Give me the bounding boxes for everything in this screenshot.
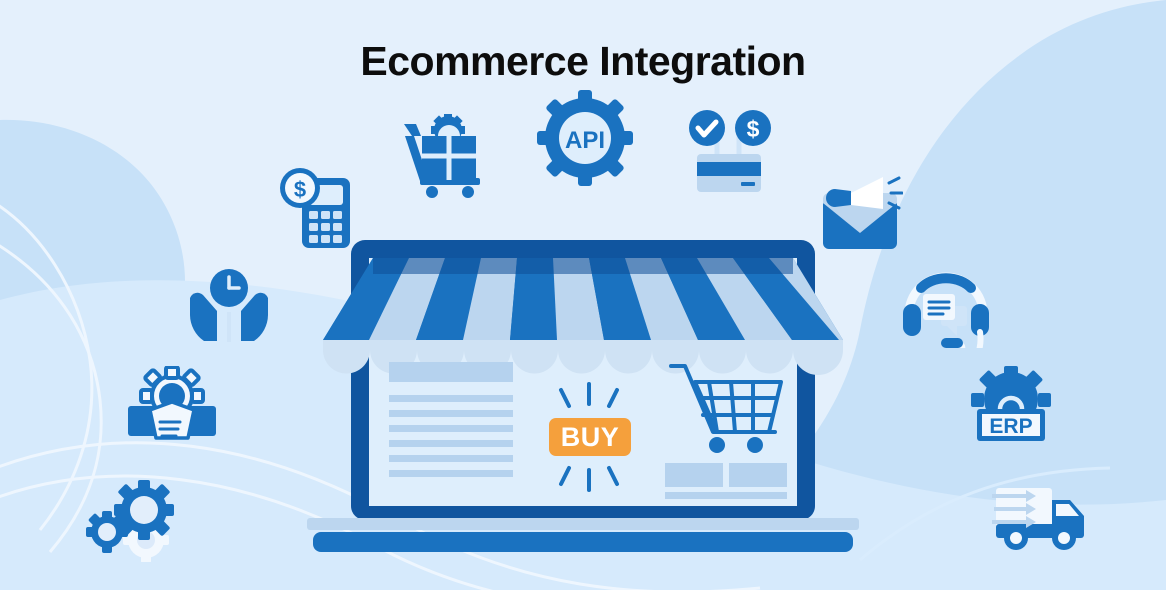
- time-saving-hands-icon[interactable]: [186, 266, 272, 344]
- product-tile-caption: [665, 492, 787, 499]
- erp-label: ERP: [989, 415, 1032, 438]
- truck-wheel-rear-hub: [1010, 532, 1022, 544]
- credit-card-number: [741, 182, 755, 186]
- content-text-line: [389, 425, 513, 432]
- product-tile[interactable]: [665, 463, 723, 487]
- content-text-line: [389, 395, 513, 402]
- content-heading-block[interactable]: [389, 362, 513, 382]
- headset-mic-boom: [962, 332, 981, 348]
- email-marketing-icon[interactable]: [817, 175, 903, 253]
- payment-card-icon[interactable]: $: [683, 110, 775, 194]
- erp-icon[interactable]: ERP: [967, 365, 1055, 447]
- dollar-icon: $: [294, 177, 306, 202]
- megaphone-body: [851, 177, 883, 209]
- illustration-canvas: Ecommerce Integration: [0, 0, 1166, 590]
- laptop-hinge-strip: [307, 518, 859, 530]
- cart-handle: [404, 124, 421, 136]
- headset-band-top: [921, 278, 971, 288]
- laptop-storefront: BUY: [303, 240, 863, 558]
- product-tile[interactable]: [729, 463, 787, 487]
- page-title: Ecommerce Integration: [0, 38, 1166, 85]
- content-text-line: [389, 455, 513, 462]
- awning-shadow: [373, 258, 793, 274]
- store-awning: [323, 258, 843, 375]
- cart-wheel: [747, 437, 763, 453]
- cart-wheel: [709, 437, 725, 453]
- dollar-icon: $: [747, 116, 760, 142]
- partnership-handshake-icon[interactable]: [126, 366, 218, 450]
- pos-calculator-icon[interactable]: $: [278, 166, 358, 250]
- gears-cluster-icon[interactable]: [86, 472, 182, 562]
- megaphone-handle: [826, 189, 851, 207]
- hands-gap: [227, 312, 231, 342]
- content-text-line: [389, 440, 513, 447]
- gear-large-hub: [130, 496, 158, 524]
- credit-card-stripe: [697, 162, 761, 176]
- hand-left: [190, 293, 217, 341]
- api-label: API: [565, 127, 605, 154]
- headset-earcup-left: [903, 304, 921, 336]
- delivery-truck-icon[interactable]: [992, 480, 1088, 556]
- customer-support-icon[interactable]: [901, 262, 991, 348]
- calculator-keys[interactable]: [309, 211, 342, 243]
- headset-mic: [941, 338, 963, 348]
- truck-speed-lines: [992, 490, 1036, 528]
- content-text-line: [389, 470, 513, 477]
- api-gear-icon[interactable]: API: [537, 90, 633, 186]
- hand-right: [241, 293, 268, 341]
- chat-bubble-back-tail: [947, 326, 957, 336]
- gear-small-hub: [98, 523, 116, 541]
- content-text-line: [389, 410, 513, 417]
- buy-button-label: BUY: [561, 422, 620, 452]
- laptop-base: [313, 532, 853, 552]
- shopping-cart-store-icon[interactable]: [398, 112, 490, 198]
- handshake-clasp: [150, 402, 194, 438]
- verified-badge-circle: [689, 110, 725, 146]
- truck-wheel-front-hub: [1058, 532, 1070, 544]
- cart-wheel: [462, 186, 474, 198]
- cart-wheel: [426, 186, 438, 198]
